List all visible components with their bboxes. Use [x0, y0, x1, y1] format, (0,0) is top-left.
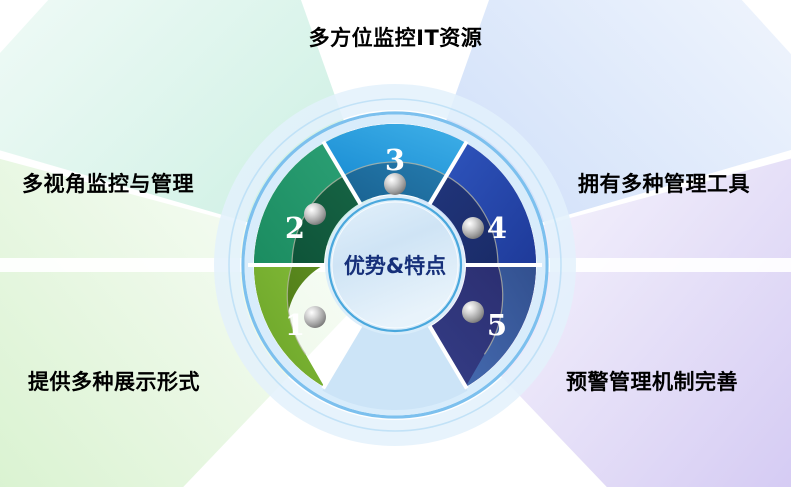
sphere-marker-2[interactable]: [304, 203, 326, 225]
segment-5-number: 5: [487, 308, 507, 342]
label-top: 多方位监控IT资源: [0, 22, 791, 52]
sphere-marker-4[interactable]: [462, 217, 484, 239]
label-right-upper: 拥有多种管理工具: [578, 168, 750, 198]
segment-3-number: 3: [385, 143, 405, 177]
segment-1-number: 1: [285, 308, 305, 342]
label-right-lower: 预警管理机制完善: [566, 366, 738, 396]
sphere-marker-3[interactable]: [384, 173, 406, 195]
label-left-upper: 多视角监控与管理: [22, 168, 194, 198]
segment-4-number: 4: [487, 211, 507, 245]
infographic-canvas: 1 2 3 4 5: [0, 0, 791, 487]
donut-chart-layer: 1 2 3 4 5: [0, 0, 791, 487]
center-label: 优势&特点: [344, 254, 446, 278]
sphere-marker-1[interactable]: [304, 306, 326, 328]
label-left-lower: 提供多种展示形式: [28, 366, 200, 396]
center-hub[interactable]: 优势&特点: [325, 195, 465, 335]
segment-2-number: 2: [285, 211, 305, 245]
sphere-marker-5[interactable]: [462, 301, 484, 323]
